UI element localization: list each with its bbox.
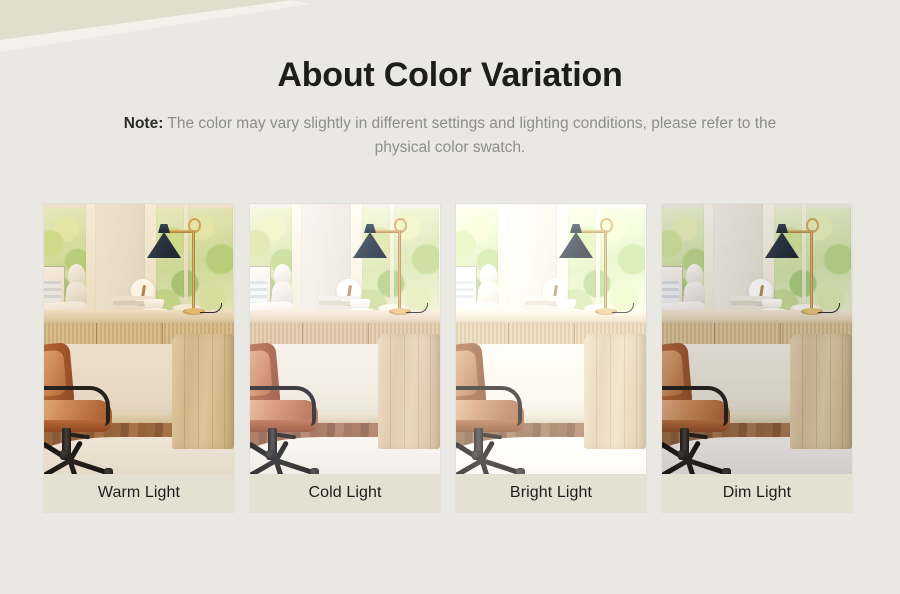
note-text: Note: The color may vary slightly in dif…	[0, 112, 900, 160]
office-chair-icon	[456, 344, 546, 474]
desk-pedestal	[790, 334, 852, 449]
desk-pedestal	[378, 334, 440, 449]
office-scene-illustration	[250, 204, 440, 474]
panel-caption: Dim Light	[662, 474, 852, 512]
lighting-panel-dim[interactable]: Dim Light	[662, 204, 852, 512]
corner-accent-shape	[0, 0, 300, 46]
room-photo-warm	[44, 204, 234, 474]
note-body: The color may vary slightly in different…	[167, 115, 776, 156]
office-chair-icon	[250, 344, 340, 474]
desk-pedestal	[172, 334, 234, 449]
office-scene-illustration	[662, 204, 852, 474]
note-label: Note:	[124, 115, 164, 132]
lighting-panel-bright[interactable]: Bright Light	[456, 204, 646, 512]
panel-caption: Cold Light	[250, 474, 440, 512]
page-title: About Color Variation	[0, 54, 900, 97]
office-scene-illustration	[44, 204, 234, 474]
room-photo-bright	[456, 204, 646, 474]
room-photo-cold	[250, 204, 440, 474]
office-chair-icon	[44, 344, 134, 474]
lighting-panel-row: Warm Light	[44, 204, 858, 512]
panel-caption: Bright Light	[456, 474, 646, 512]
lighting-panel-warm[interactable]: Warm Light	[44, 204, 234, 512]
corner-accent-highlight	[0, 0, 310, 52]
office-scene-illustration	[456, 204, 646, 474]
room-photo-dim	[662, 204, 852, 474]
color-variation-page: About Color Variation Note: The color ma…	[0, 0, 900, 594]
office-chair-icon	[662, 344, 752, 474]
panel-caption: Warm Light	[44, 474, 234, 512]
lighting-panel-cold[interactable]: Cold Light	[250, 204, 440, 512]
desk-pedestal	[584, 334, 646, 449]
